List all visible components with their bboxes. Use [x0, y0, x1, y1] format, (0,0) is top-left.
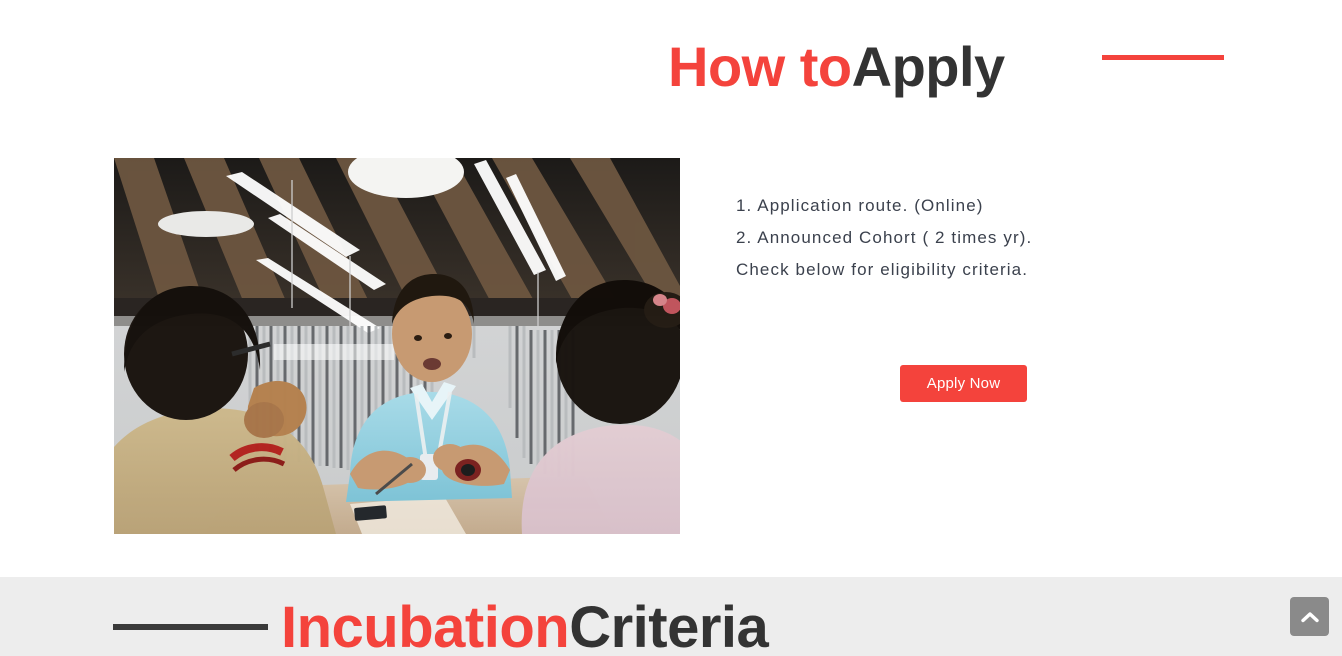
apply-instruction-line-2: 2. Announced Cohort ( 2 times yr).	[736, 222, 1156, 254]
page-title-accent: How to	[668, 38, 852, 97]
apply-instruction-line-1: 1. Application route. (Online)	[736, 190, 1156, 222]
criteria-title-accent: Incubation	[281, 598, 569, 656]
criteria-dark-rule	[113, 624, 268, 630]
page-title-dark: Apply	[852, 38, 1005, 97]
apply-instructions: 1. Application route. (Online) 2. Announ…	[736, 190, 1156, 286]
incubation-criteria-section: Incubation Criteria	[0, 577, 1342, 656]
meeting-photo-image	[114, 158, 680, 534]
meeting-photo	[114, 158, 680, 534]
heading-red-rule	[1102, 55, 1224, 60]
apply-instruction-line-3: Check below for eligibility criteria.	[736, 254, 1156, 286]
page-root: How to Apply	[0, 0, 1342, 656]
page-title: How to Apply	[668, 38, 1005, 97]
how-to-apply-section: How to Apply	[0, 0, 1342, 577]
criteria-title-dark: Criteria	[569, 598, 768, 656]
criteria-title: Incubation Criteria	[281, 598, 768, 656]
chevron-up-icon	[1301, 611, 1319, 623]
scroll-to-top-button[interactable]	[1290, 597, 1329, 636]
apply-now-button[interactable]: Apply Now	[900, 365, 1027, 402]
